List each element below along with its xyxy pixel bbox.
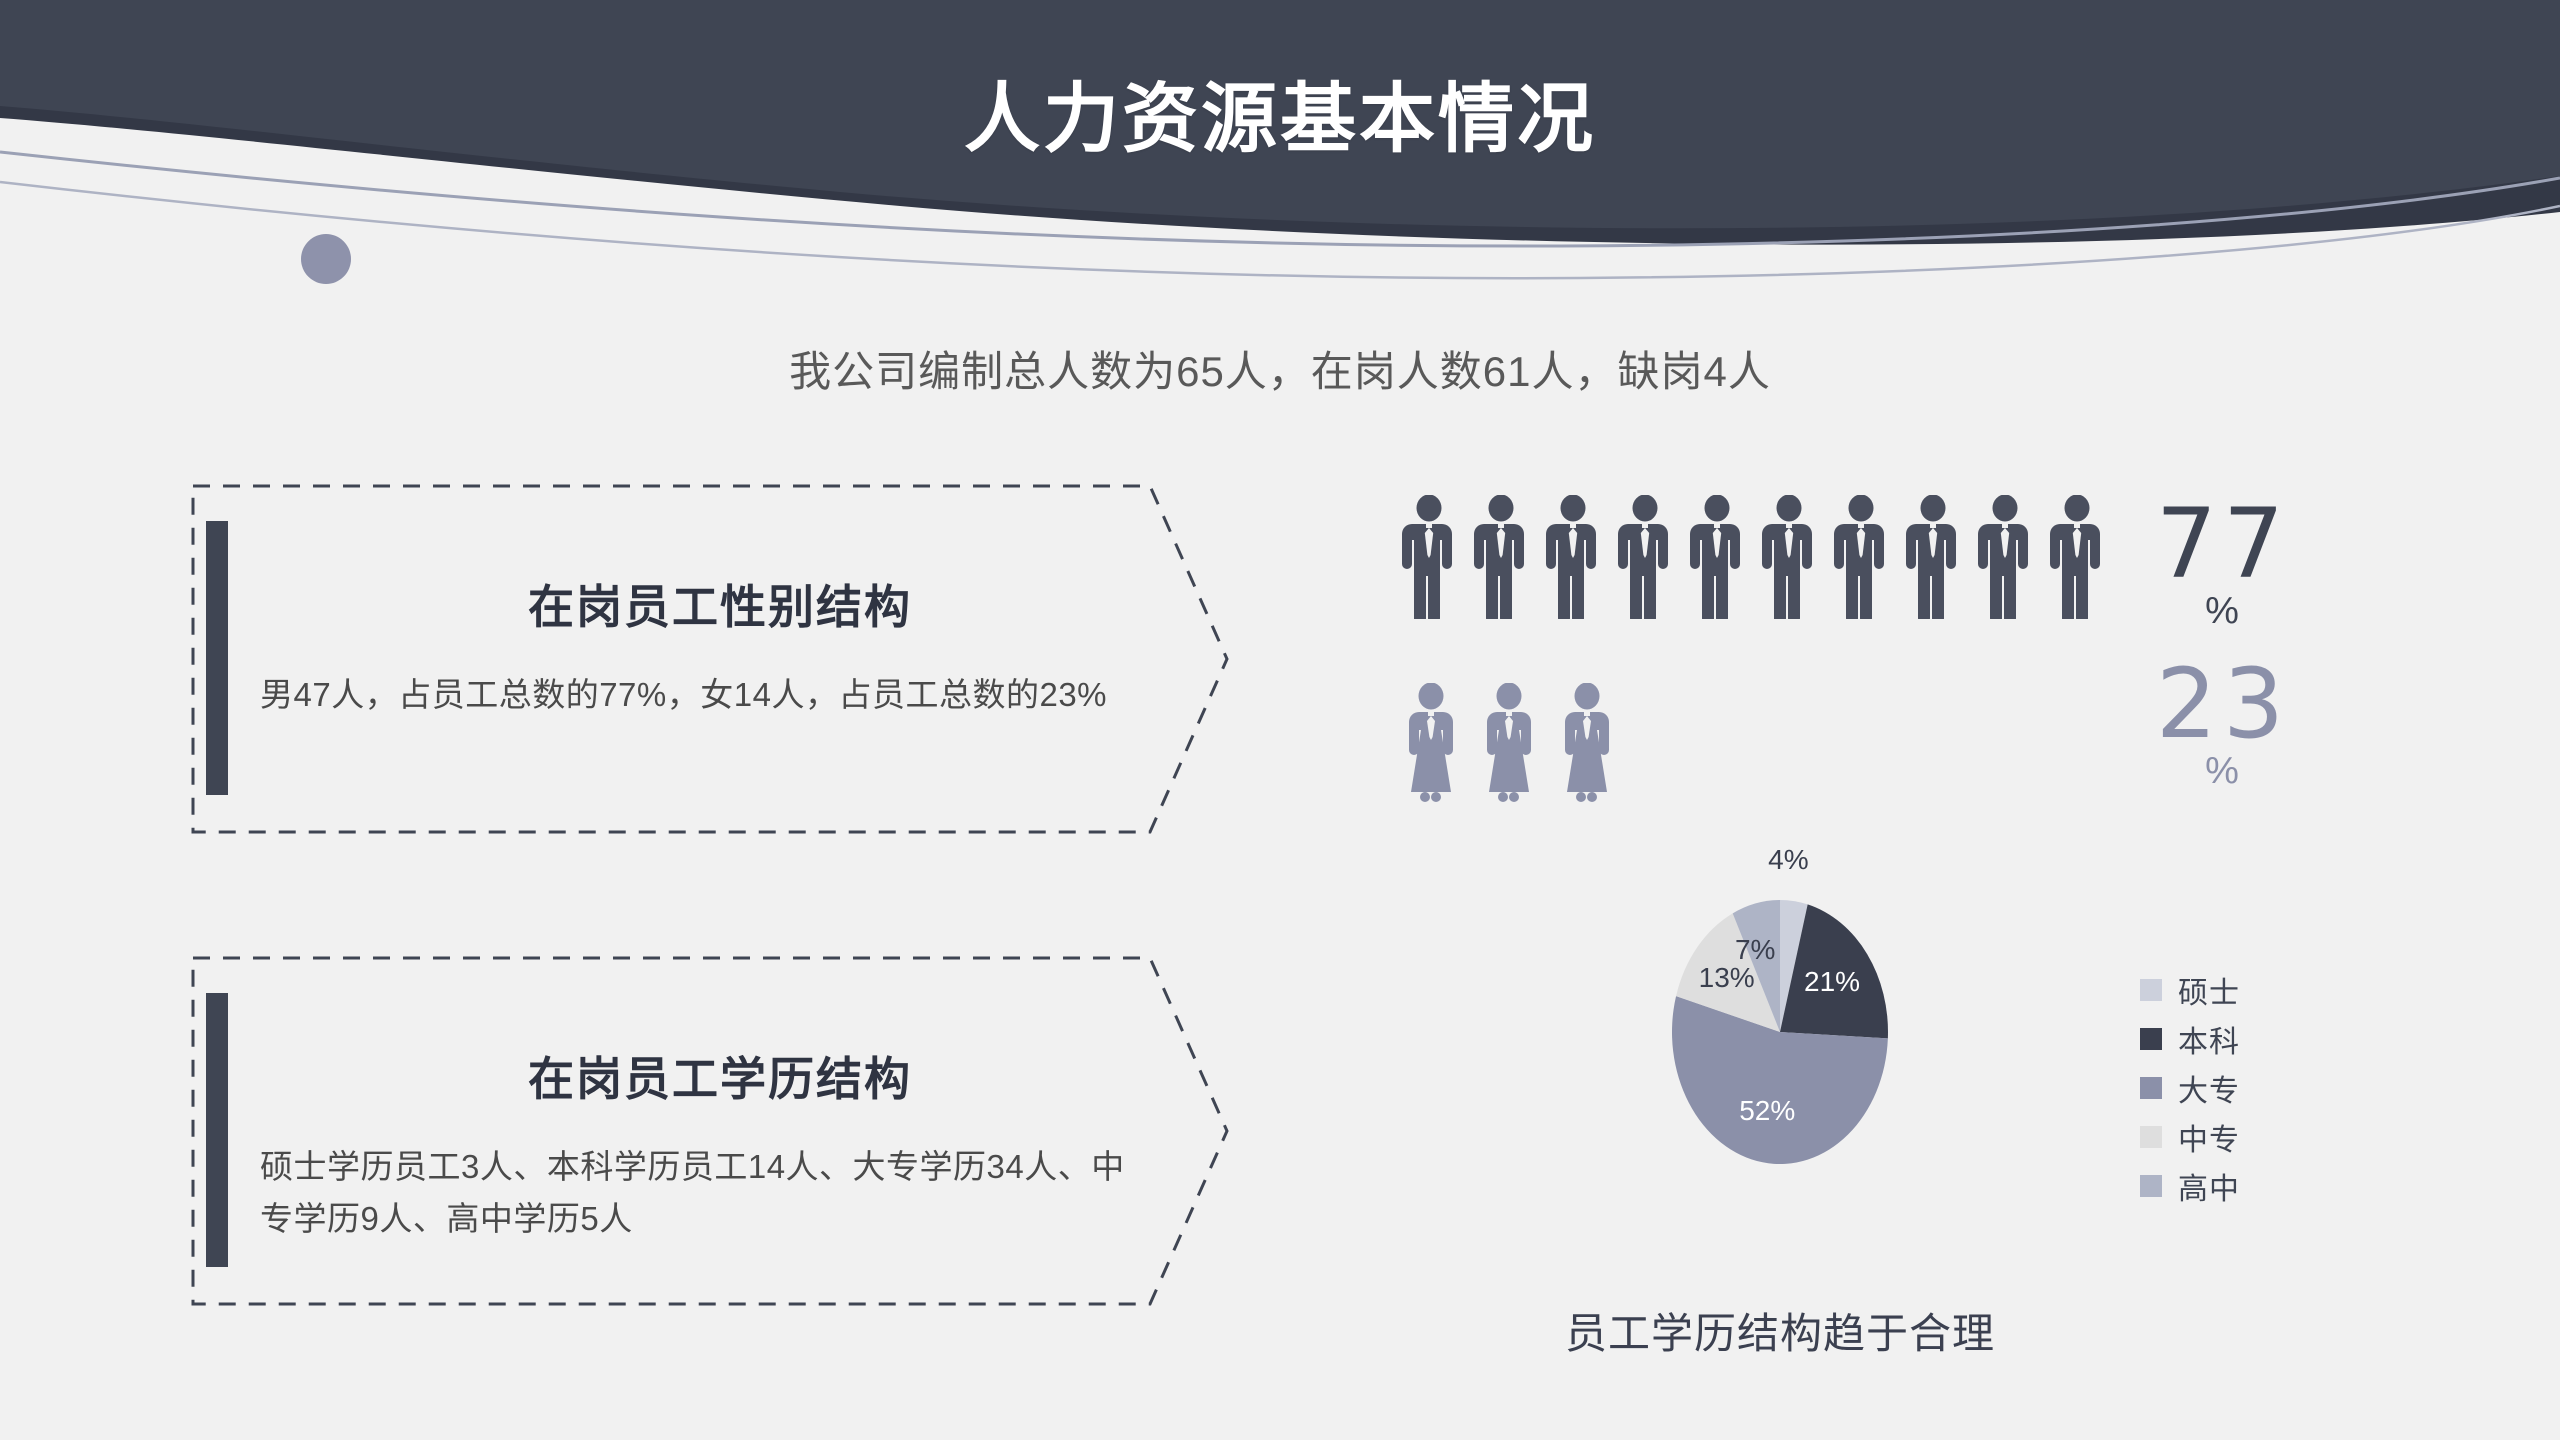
pie-slice-label: 21% xyxy=(1804,966,1860,998)
legend-item[interactable]: 本科 xyxy=(2140,1017,2240,1061)
male-figure-icon xyxy=(1760,495,1818,619)
card-accent-bar xyxy=(206,521,228,795)
legend-label: 中专 xyxy=(2178,1115,2240,1159)
legend-swatch-icon xyxy=(2140,1126,2162,1148)
card-arrow-outline xyxy=(190,483,1230,835)
female-percent-block: 23 % xyxy=(2108,660,2338,790)
card-body-text: 硕士学历员工3人、本科学历员工14人、大专学历34人、中专学历9人、高中学历5人 xyxy=(260,1141,1140,1245)
female-figure-row xyxy=(1402,683,1616,807)
legend-item[interactable]: 高中 xyxy=(2140,1164,2240,1208)
legend-label: 大专 xyxy=(2178,1066,2240,1110)
female-figure-icon xyxy=(1558,683,1616,807)
pie-slice-label: 7% xyxy=(1735,934,1775,966)
card-gender-structure[interactable]: 在岗员工性别结构 男47人，占员工总数的77%，女14人，占员工总数的23% xyxy=(190,483,1230,835)
legend-label: 硕士 xyxy=(2178,968,2240,1012)
legend-item[interactable]: 硕士 xyxy=(2140,968,2240,1012)
legend-item[interactable]: 中专 xyxy=(2140,1115,2240,1159)
legend-swatch-icon xyxy=(2140,1028,2162,1050)
pie-slice-label: 4% xyxy=(1768,844,1808,876)
card-title: 在岗员工学历结构 xyxy=(250,1043,1190,1109)
male-figure-icon xyxy=(1976,495,2034,619)
male-figure-icon xyxy=(1400,495,1458,619)
legend-swatch-icon xyxy=(2140,979,2162,1001)
slide-root: 人力资源基本情况 我公司编制总人数为65人，在岗人数61人，缺岗4人 在岗员工性… xyxy=(0,0,2560,1440)
male-percent-symbol: % xyxy=(2108,592,2338,630)
male-figure-icon xyxy=(2048,495,2106,619)
legend-item[interactable]: 大专 xyxy=(2140,1066,2240,1110)
pie-legend: 硕士本科大专中专高中 xyxy=(2140,968,2240,1213)
card-arrow-outline xyxy=(190,955,1230,1307)
subtitle: 我公司编制总人数为65人，在岗人数61人，缺岗4人 xyxy=(0,338,2560,399)
pie-svg xyxy=(1530,880,2030,1180)
legend-swatch-icon xyxy=(2140,1077,2162,1099)
decor-dot-icon xyxy=(295,228,357,290)
card-title: 在岗员工性别结构 xyxy=(250,571,1190,637)
gender-pictogram xyxy=(1400,495,2100,815)
legend-swatch-icon xyxy=(2140,1175,2162,1197)
page-title: 人力资源基本情况 xyxy=(0,78,2560,162)
male-percent-block: 77 % xyxy=(2108,500,2338,630)
female-figure-icon xyxy=(1402,683,1460,807)
legend-label: 高中 xyxy=(2178,1164,2240,1208)
card-accent-bar xyxy=(206,993,228,1267)
male-figure-row xyxy=(1400,495,2106,619)
male-figure-icon xyxy=(1904,495,1962,619)
male-percent-value: 77 xyxy=(2156,488,2290,600)
legend-label: 本科 xyxy=(2178,1017,2240,1061)
male-figure-icon xyxy=(1472,495,1530,619)
pie-slice-label: 13% xyxy=(1699,962,1755,994)
education-pie-chart[interactable]: 4%21%52%13%7% xyxy=(1530,880,2030,1180)
female-figure-icon xyxy=(1480,683,1538,807)
card-education-structure[interactable]: 在岗员工学历结构 硕士学历员工3人、本科学历员工14人、大专学历34人、中专学历… xyxy=(190,955,1230,1307)
male-figure-icon xyxy=(1616,495,1674,619)
female-percent-symbol: % xyxy=(2108,752,2338,790)
card-body-text: 男47人，占员工总数的77%，女14人，占员工总数的23% xyxy=(260,669,1140,721)
male-figure-icon xyxy=(1688,495,1746,619)
male-figure-icon xyxy=(1832,495,1890,619)
male-figure-icon xyxy=(1544,495,1602,619)
pie-slice-label: 52% xyxy=(1739,1095,1795,1127)
female-percent-value: 23 xyxy=(2156,648,2290,760)
pie-caption: 员工学历结构趋于合理 xyxy=(1480,1300,2080,1361)
